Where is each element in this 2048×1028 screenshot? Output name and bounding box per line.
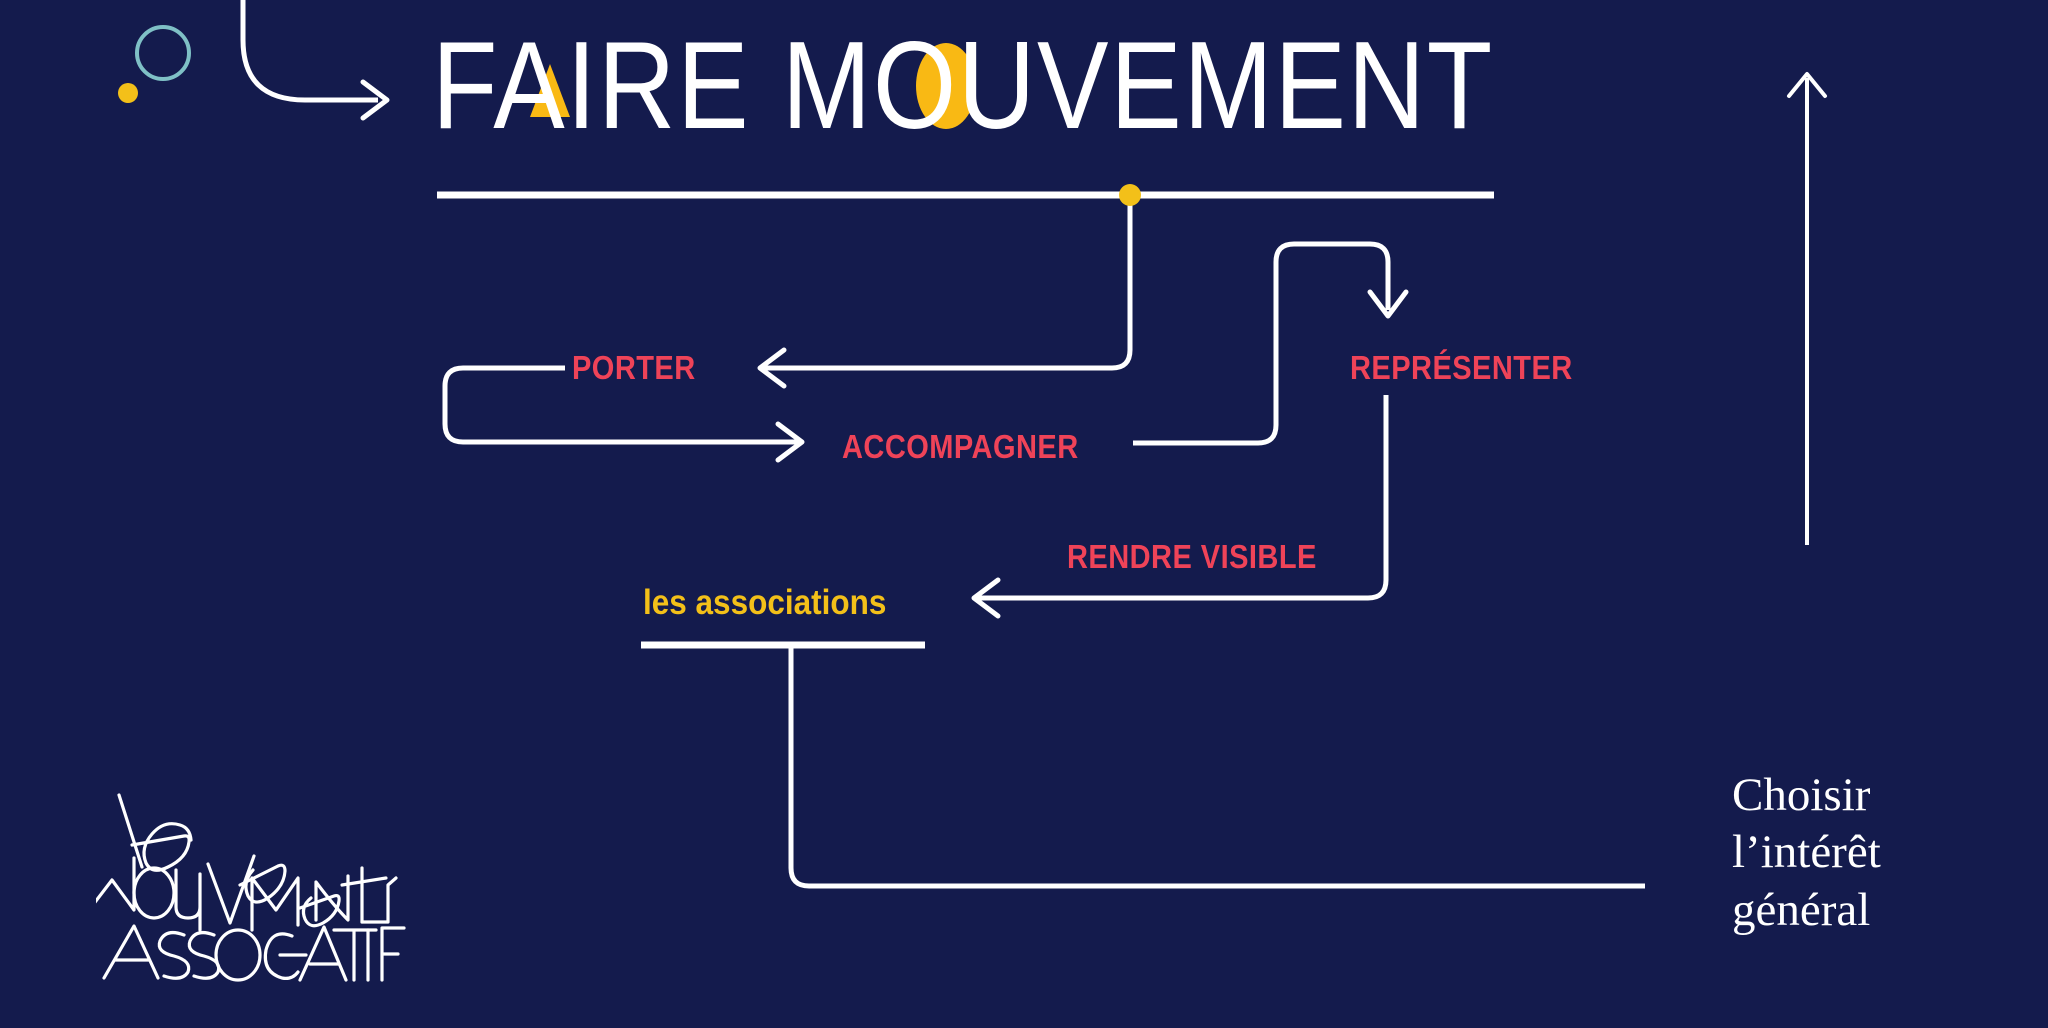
logo-letter-M — [96, 858, 134, 910]
page-title: FAIRE MOUVEMENT — [432, 24, 1502, 154]
logo-letter-e3 — [300, 896, 339, 926]
teal-circle-outline-icon — [137, 27, 189, 79]
le-mouvement-associatif-logo[interactable] — [96, 790, 406, 990]
yellow-dot-icon — [118, 83, 138, 103]
entry-curve-path — [243, 0, 378, 100]
logo-letter-A2 — [104, 926, 158, 978]
node-label-porter[interactable]: PORTER — [572, 349, 696, 387]
title-text: FAIRE MOUVEMENT — [432, 24, 1494, 154]
logo-letter-S2 — [189, 933, 218, 979]
logo-letter-O2 — [216, 930, 260, 980]
edge-associations-to-tagline — [791, 648, 1645, 886]
tagline-line-2: l’intérêt — [1732, 824, 1881, 881]
logo-letter-A3 — [300, 927, 346, 980]
logo-letter-F — [382, 928, 404, 980]
logo-letter-m2 — [252, 878, 298, 930]
title-rule-dot — [1119, 184, 1141, 206]
logo-letter-S — [159, 933, 188, 979]
slide-canvas: FAIRE MOUVEMENT PORTER ACCOMPAGNER REPRÉ… — [0, 0, 2048, 1028]
node-label-rendre-visible[interactable]: RENDRE VISIBLE — [1067, 538, 1317, 576]
node-label-associations[interactable]: les associations — [643, 583, 886, 623]
edge-accompagner-to-representer — [1133, 244, 1388, 443]
logo-letter-L — [119, 795, 142, 867]
tagline: Choisir l’intérêt général — [1732, 767, 1881, 939]
edge-title-to-porter — [762, 200, 1130, 368]
tagline-line-3: général — [1732, 882, 1881, 939]
node-label-representer[interactable]: REPRÉSENTER — [1350, 349, 1573, 387]
node-label-accompagner[interactable]: ACCOMPAGNER — [842, 428, 1079, 466]
logo-letter-T — [334, 930, 376, 980]
logo-letter-t-tail — [362, 878, 396, 922]
logo-letter-u — [176, 870, 200, 930]
tagline-line-1: Choisir — [1732, 767, 1881, 824]
logo-letter-e2 — [240, 865, 285, 902]
logo-letter-o — [134, 868, 174, 918]
